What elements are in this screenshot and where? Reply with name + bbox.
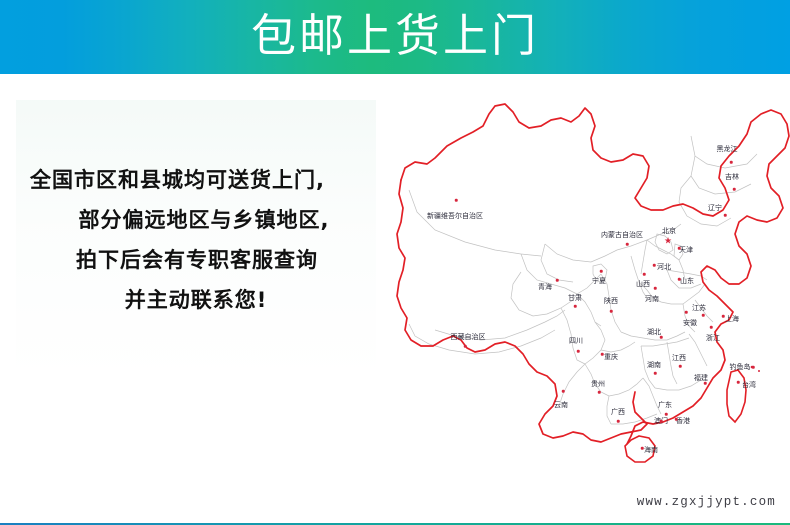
province-marker-江西 <box>679 365 682 368</box>
province-label-天津: 天津 <box>679 247 693 254</box>
province-marker-钓鱼岛 <box>752 366 755 369</box>
capital-marker-beijing: ★ <box>664 237 672 246</box>
banner-underline-divider <box>0 74 790 77</box>
province-label-重庆: 重庆 <box>604 354 618 361</box>
province-marker-西藏自治区 <box>464 345 467 348</box>
header-banner: 包邮上货上门 <box>0 0 790 74</box>
province-label-陕西: 陕西 <box>604 298 618 305</box>
province-marker-上海 <box>722 315 725 318</box>
province-label-浙江: 浙江 <box>706 335 720 342</box>
province-marker-山西 <box>643 273 646 276</box>
province-label-江苏: 江苏 <box>692 305 706 312</box>
province-label-山东: 山东 <box>680 278 694 285</box>
province-marker-新疆维吾尔自治区 <box>455 199 458 202</box>
province-label-河北: 河北 <box>657 264 671 271</box>
province-label-宁夏: 宁夏 <box>592 278 606 285</box>
province-marker-天津 <box>678 247 681 250</box>
province-marker-重庆 <box>601 353 604 356</box>
province-label-湖南: 湖南 <box>647 362 661 369</box>
province-label-钓鱼岛: 钓鱼岛 <box>730 364 751 371</box>
province-label-黑龙江: 黑龙江 <box>717 146 738 153</box>
province-label-海南: 海南 <box>644 447 658 454</box>
taiwan-island-outline <box>727 370 746 422</box>
province-label-广东: 广东 <box>658 402 672 409</box>
promo-banner-page: 包邮上货上门 全国市区和县城均可送货上门, 部分偏远地区与乡镇地区, 拍下后会有… <box>0 0 790 525</box>
province-label-湖北: 湖北 <box>647 329 661 336</box>
province-marker-江苏 <box>702 314 705 317</box>
province-label-台湾: 台湾 <box>742 382 756 389</box>
province-marker-台湾 <box>737 381 740 384</box>
province-marker-香港 <box>675 418 678 421</box>
province-marker-四川 <box>577 350 580 353</box>
province-marker-安徽 <box>685 311 688 314</box>
province-marker-云南 <box>562 390 565 393</box>
province-marker-贵州 <box>598 391 601 394</box>
province-label-山西: 山西 <box>636 281 650 288</box>
province-marker-海南 <box>641 447 644 450</box>
province-label-北京: 北京 <box>662 228 676 235</box>
province-marker-湖南 <box>654 372 657 375</box>
province-marker-福建 <box>704 382 707 385</box>
province-marker-浙江 <box>710 326 713 329</box>
province-label-贵州: 贵州 <box>591 381 605 388</box>
province-marker-吉林 <box>733 188 736 191</box>
province-marker-黑龙江 <box>730 161 733 164</box>
province-label-广西: 广西 <box>611 409 625 416</box>
province-marker-广东 <box>665 413 668 416</box>
province-marker-甘肃 <box>574 305 577 308</box>
province-marker-内蒙古自治区 <box>626 243 629 246</box>
province-marker-湖北 <box>660 336 663 339</box>
province-label-云南: 云南 <box>554 402 568 409</box>
province-marker-青海 <box>556 279 559 282</box>
province-marker-山东 <box>678 278 681 281</box>
province-label-河南: 河南 <box>645 296 659 303</box>
province-label-西藏自治区: 西藏自治区 <box>451 334 486 341</box>
copy-line-4: 并主动联系您! <box>22 280 370 320</box>
site-watermark: www.zgxjjypt.com <box>637 495 776 509</box>
province-label-甘肃: 甘肃 <box>568 295 582 302</box>
province-label-安徽: 安徽 <box>683 320 697 327</box>
province-label-香港: 香港 <box>676 418 690 425</box>
shipping-copy-block: 全国市区和县城均可送货上门, 部分偏远地区与乡镇地区, 拍下后会有专职客服查询 … <box>16 100 376 380</box>
province-marker-澳门 <box>660 420 663 423</box>
province-label-新疆维吾尔自治区: 新疆维吾尔自治区 <box>427 213 483 220</box>
province-marker-宁夏 <box>600 270 603 273</box>
province-label-江西: 江西 <box>672 355 686 362</box>
province-label-辽宁: 辽宁 <box>708 205 722 212</box>
province-label-青海: 青海 <box>538 284 552 291</box>
copy-line-2: 部分偏远地区与乡镇地区, <box>22 200 370 240</box>
province-label-吉林: 吉林 <box>725 174 739 181</box>
province-marker-广西 <box>617 420 620 423</box>
province-marker-陕西 <box>610 310 613 313</box>
province-label-内蒙古自治区: 内蒙古自治区 <box>601 232 643 239</box>
province-marker-河北 <box>653 264 656 267</box>
province-marker-辽宁 <box>724 214 727 217</box>
banner-title: 包邮上货上门 <box>251 13 539 61</box>
copy-line-3: 拍下后会有专职客服查询 <box>22 240 370 280</box>
province-label-上海: 上海 <box>725 316 739 323</box>
province-marker-河南 <box>654 287 657 290</box>
china-map: 黑龙江吉林辽宁内蒙古自治区北京★天津河北山西山东宁夏新疆维吾尔自治区青海甘肃陕西… <box>395 84 790 499</box>
province-label-四川: 四川 <box>569 338 583 345</box>
copy-line-1: 全国市区和县城均可送货上门, <box>22 160 370 200</box>
